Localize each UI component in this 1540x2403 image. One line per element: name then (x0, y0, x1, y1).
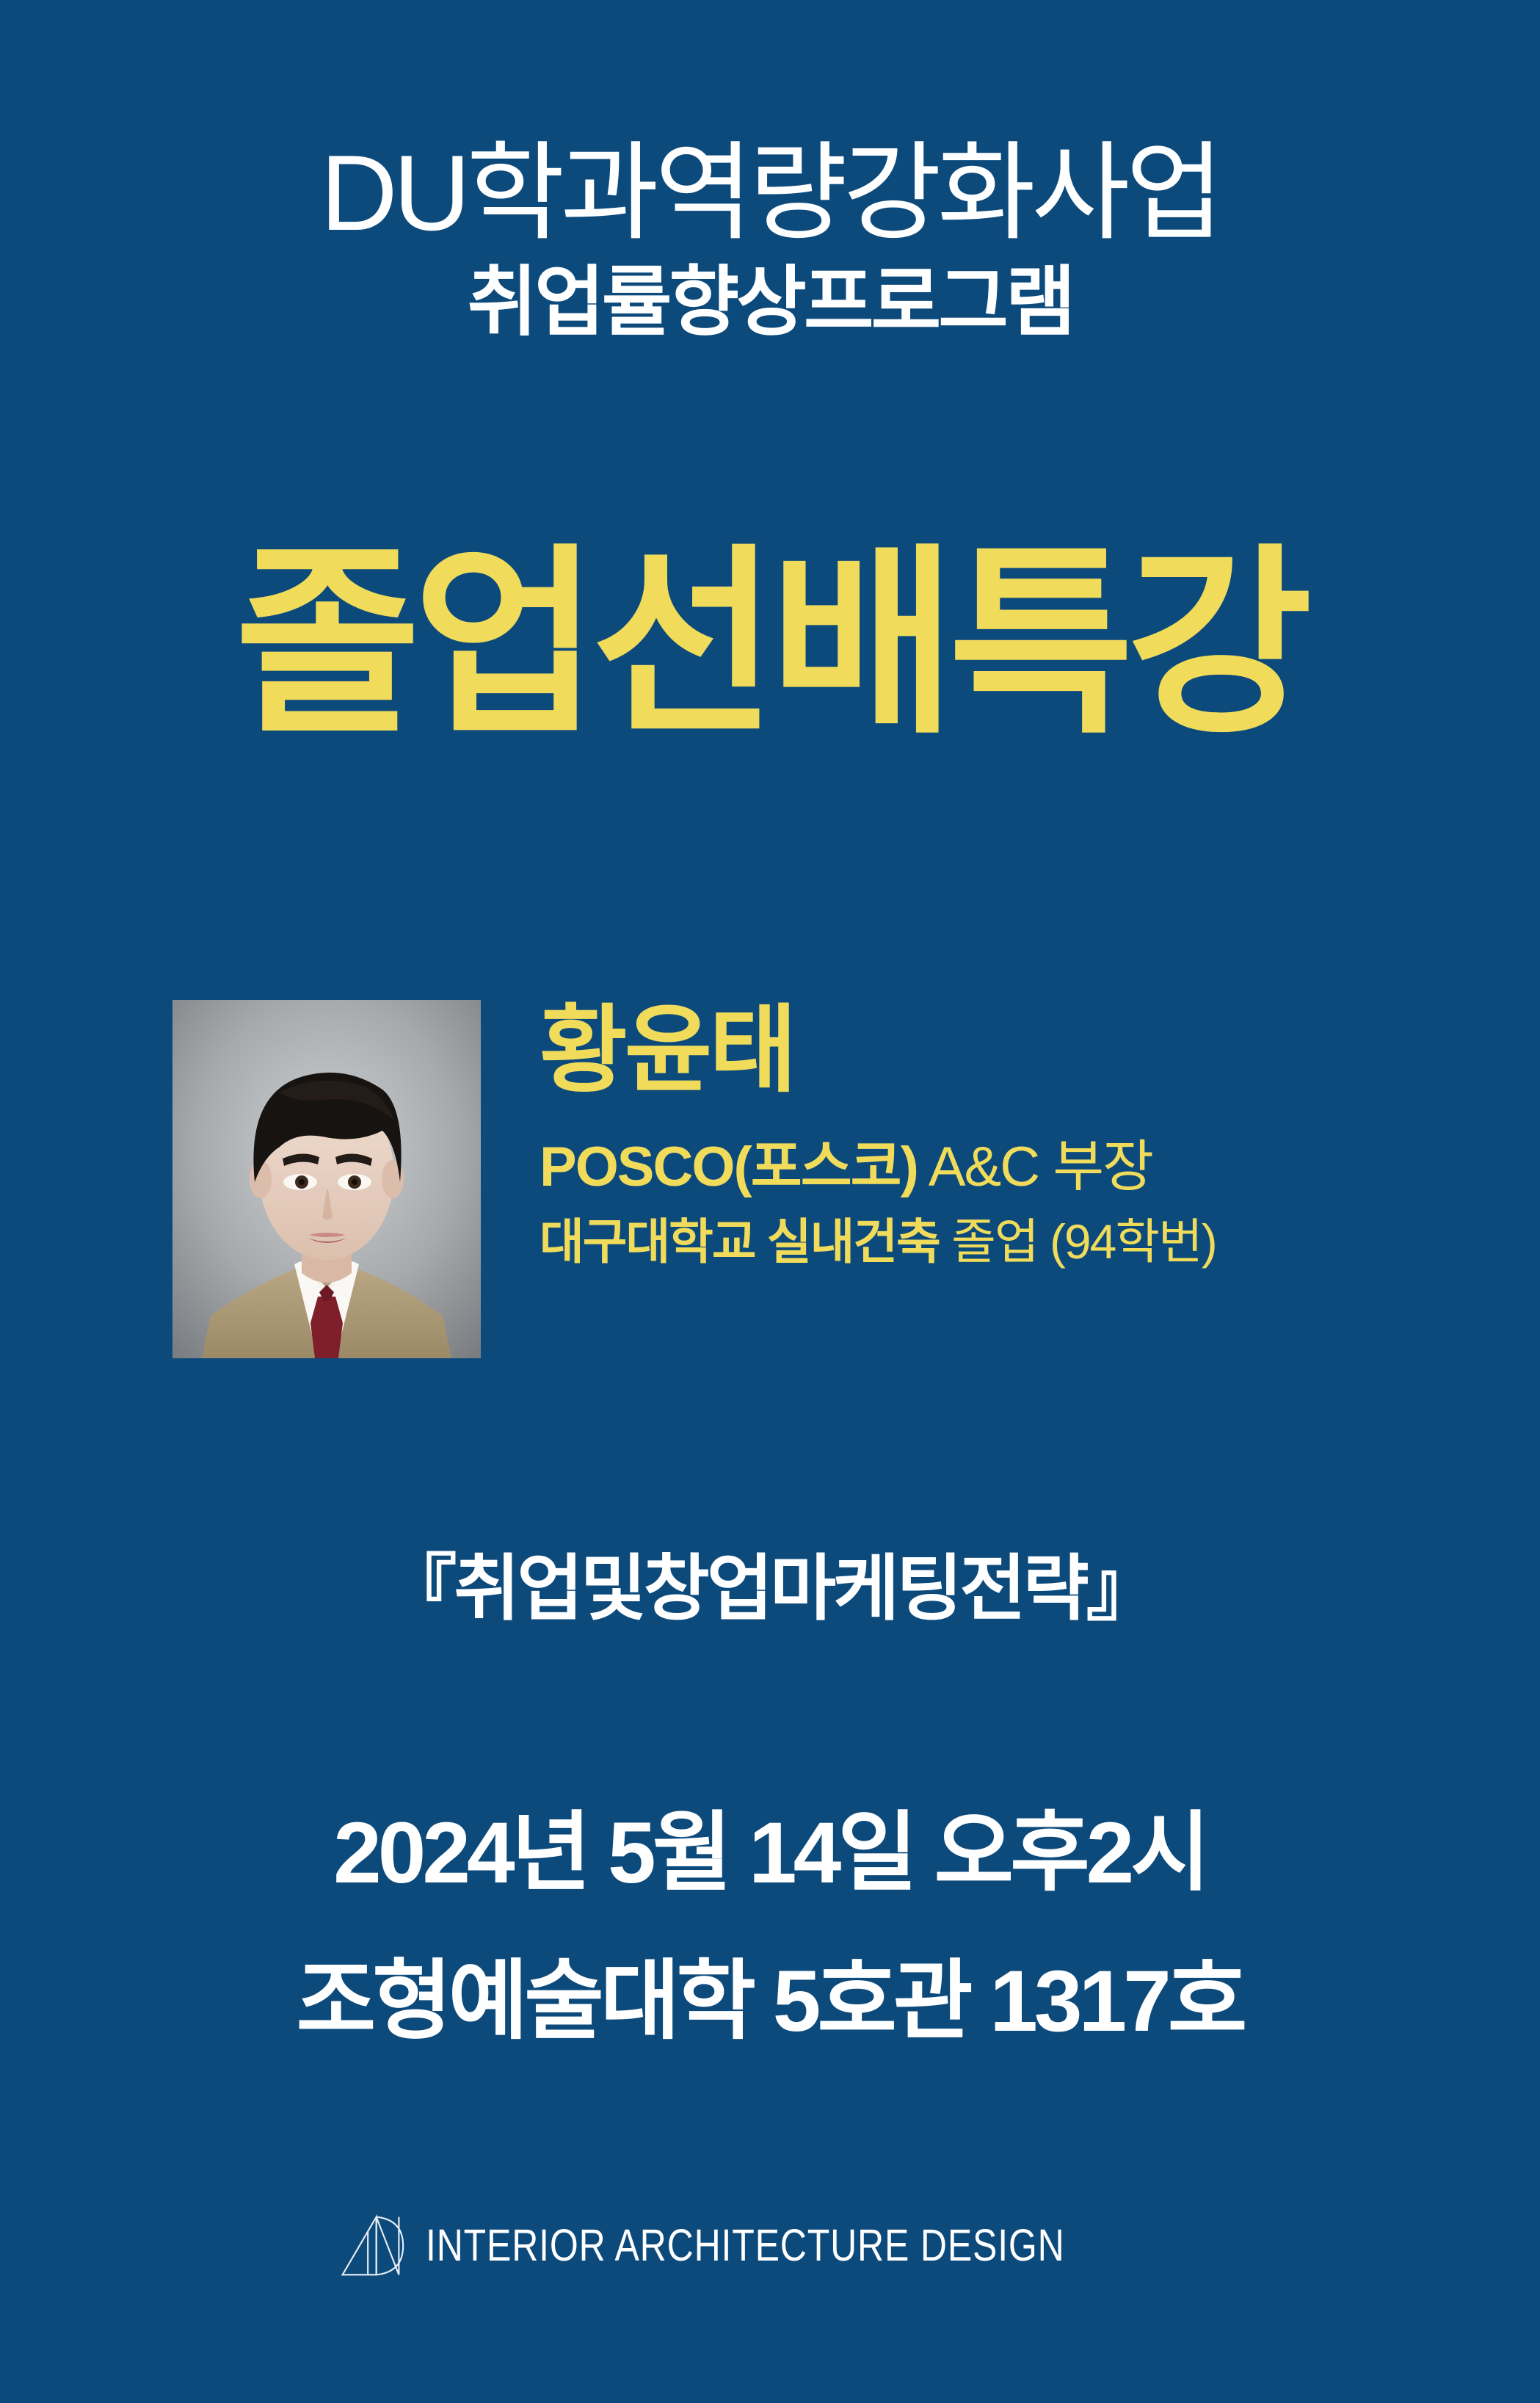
speaker-grad-status: 졸업 (94학번) (940, 1214, 1216, 1269)
department-name: INTERIOR ARCHITECTURE DESIGN (426, 2223, 1065, 2268)
speaker-school: 대구대학교 실내건축 (540, 1214, 940, 1269)
program-title: DU학과역량강화사업 (0, 137, 1540, 250)
poster-header: DU학과역량강화사업 취업률향상프로그램 (0, 137, 1540, 344)
speaker-position: A&C 부장 (918, 1136, 1152, 1198)
speaker-name: 황윤태 (540, 1000, 1442, 1101)
iad-monogram-icon (335, 2210, 407, 2280)
portrait-illustration (172, 1000, 481, 1358)
iad-monogram-shape (335, 2210, 407, 2280)
speaker-role: POSCO(포스코) A&C 부장 (540, 1137, 1442, 1198)
speaker-details: 황윤태 POSCO(포스코) A&C 부장 대구대학교 실내건축 졸업 (94학… (540, 1000, 1442, 1269)
main-title: 졸업선배특강 (0, 543, 1540, 745)
schedule-section: 2024년 5월 14일 오후2시 조형예술대학 5호관 1317호 (0, 1806, 1540, 2050)
poster-canvas: DU학과역량강화사업 취업률향상프로그램 졸업선배특강 (0, 0, 1540, 2403)
subprogram-title: 취업률향상프로그램 (0, 261, 1540, 344)
speaker-portrait-photo (172, 1000, 481, 1358)
poster-footer: INTERIOR ARCHITECTURE DESIGN (0, 2210, 1540, 2280)
speaker-section: 황윤태 POSCO(포스코) A&C 부장 대구대학교 실내건축 졸업 (94학… (0, 1000, 1540, 1382)
lecture-topic: 『취업및창업마케팅전략』 (0, 1549, 1540, 1628)
event-datetime: 2024년 5월 14일 오후2시 (0, 1806, 1540, 1902)
speaker-company: POSCO(포스코) (540, 1136, 918, 1198)
speaker-education: 대구대학교 실내건축 졸업 (94학번) (540, 1215, 1442, 1269)
event-venue: 조형예술대학 5호관 1317호 (0, 1954, 1540, 2050)
